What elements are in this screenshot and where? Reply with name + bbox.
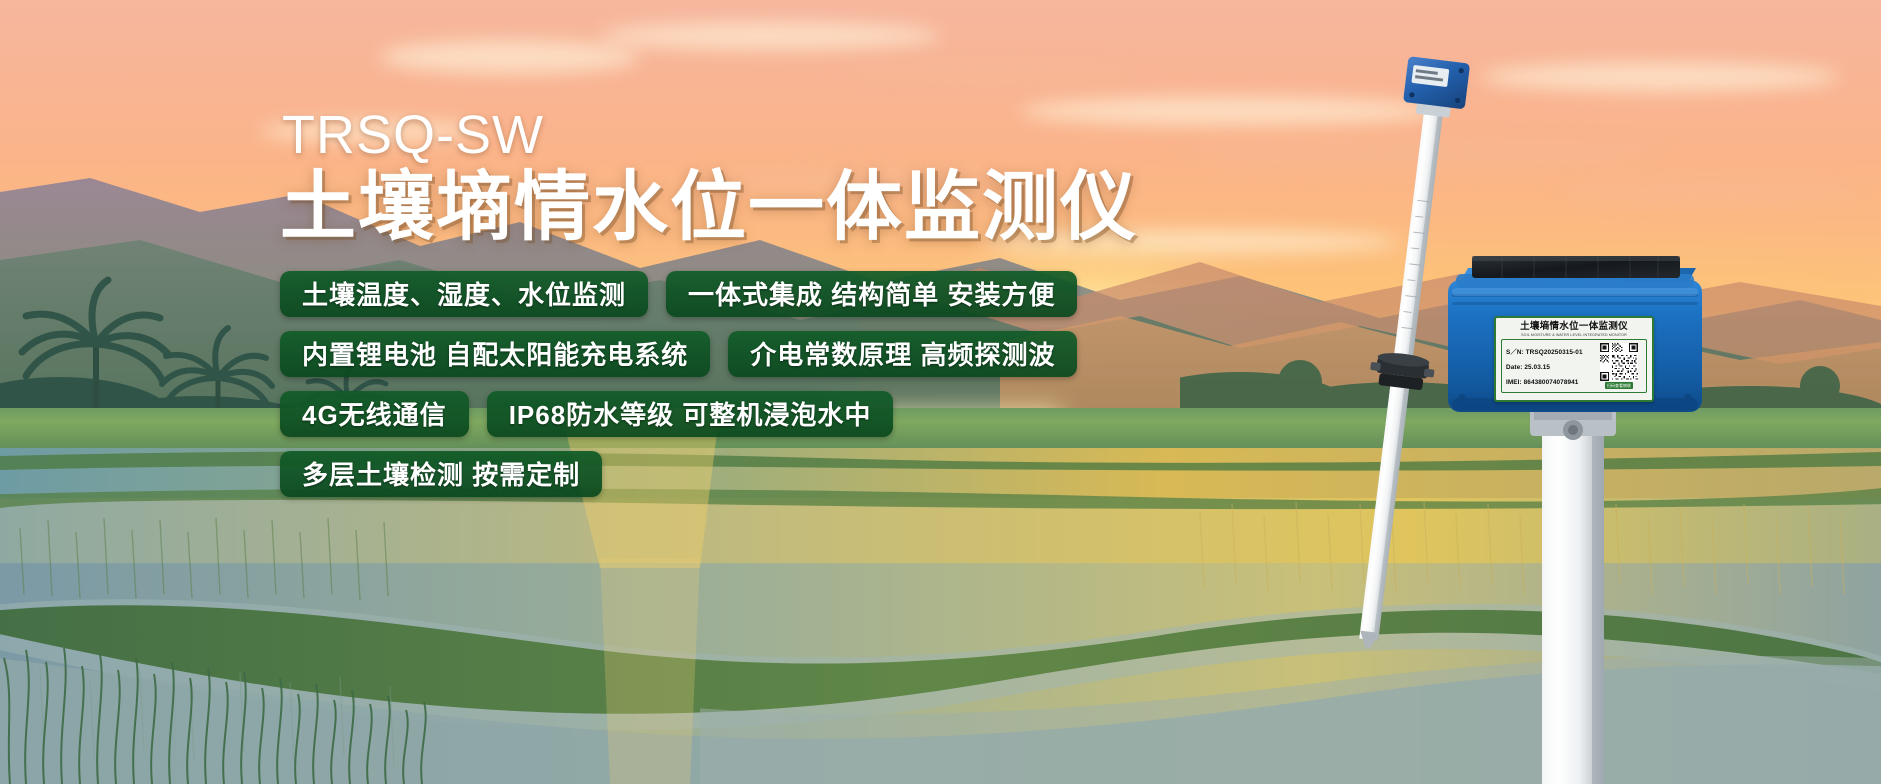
qr-code-block: 扫码查看物联 <box>1596 343 1642 389</box>
feature-tag-row: 多层土壤检测 按需定制 <box>280 451 1100 497</box>
nameplate-subtitle: SOIL MOISTURE & WATER LEVEL INTEGRATED M… <box>1501 333 1647 337</box>
foreground-grass <box>0 554 460 784</box>
product-model: TRSQ-SW <box>282 108 1100 162</box>
qr-caption: 扫码查看物联 <box>1605 382 1633 389</box>
nameplate-fields: S／N: TRSQ20250315-01 Date: 25.03.15 IMEI… <box>1506 343 1593 389</box>
cloud <box>840 60 1140 86</box>
feature-tag[interactable]: 一体式集成 结构简单 安装方便 <box>666 271 1077 317</box>
qr-code-icon <box>1599 343 1639 381</box>
nameplate-body: S／N: TRSQ20250315-01 Date: 25.03.15 IMEI… <box>1501 339 1647 393</box>
feature-tag-row: 内置锂电池 自配太阳能充电系统 介电常数原理 高频探测波 <box>280 331 1100 377</box>
nameplate-imei: IMEI: 864380074078941 <box>1506 379 1593 386</box>
feature-tag[interactable]: 多层土壤检测 按需定制 <box>280 451 602 497</box>
feature-tag[interactable]: 土壤温度、湿度、水位监测 <box>280 271 648 317</box>
feature-tag[interactable]: 介电常数原理 高频探测波 <box>728 331 1077 377</box>
nameplate-title: 土壤墒情水位一体监测仪 <box>1501 322 1647 332</box>
feature-tag[interactable]: IP68防水等级 可整机浸泡水中 <box>487 391 894 437</box>
nameplate-date: Date: 25.03.15 <box>1506 364 1593 371</box>
feature-tag-list: 土壤温度、湿度、水位监测 一体式集成 结构简单 安装方便 内置锂电池 自配太阳能… <box>280 271 1100 497</box>
cloud <box>600 22 940 50</box>
banner-copy: TRSQ-SW 土壤墒情水位一体监测仪 土壤温度、湿度、水位监测 一体式集成 结… <box>280 108 1100 511</box>
cloud <box>380 40 640 74</box>
feature-tag[interactable]: 4G无线通信 <box>280 391 469 437</box>
cloud <box>1480 62 1840 92</box>
feature-tag-row: 4G无线通信 IP68防水等级 可整机浸泡水中 <box>280 391 1100 437</box>
feature-tag-row: 土壤温度、湿度、水位监测 一体式集成 结构简单 安装方便 <box>280 271 1100 317</box>
product-banner: TRSQ-SW 土壤墒情水位一体监测仪 土壤温度、湿度、水位监测 一体式集成 结… <box>0 0 1881 784</box>
device-nameplate: 土壤墒情水位一体监测仪 SOIL MOISTURE & WATER LEVEL … <box>1494 316 1654 402</box>
feature-tag[interactable]: 内置锂电池 自配太阳能充电系统 <box>280 331 710 377</box>
nameplate-serial: S／N: TRSQ20250315-01 <box>1506 347 1593 356</box>
page-title: 土壤墒情水位一体监测仪 <box>280 168 1100 249</box>
